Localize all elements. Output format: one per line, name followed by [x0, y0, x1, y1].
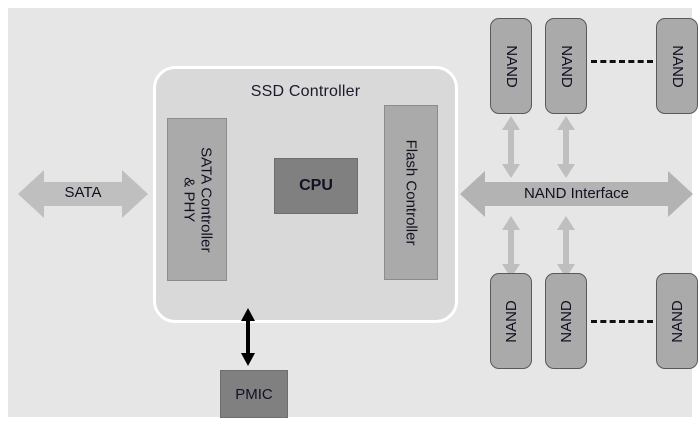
- sata-controller-phy-label-line1: SATA Controller: [197, 147, 214, 252]
- nand-chip-top-1: NAND: [490, 18, 532, 114]
- nand-channel-arrow-bottom-2: [556, 216, 576, 278]
- diagram-canvas: SATA SSD Controller SATA Controller & PH…: [8, 8, 692, 417]
- nand-channel-arrow-bottom-1: [501, 216, 521, 278]
- nand-chip-top-1-label: NAND: [503, 45, 520, 88]
- ssd-controller-title: SSD Controller: [156, 83, 455, 101]
- nand-chip-bottom-2-label: NAND: [558, 300, 575, 343]
- nand-chip-top-3-label: NAND: [669, 45, 686, 88]
- sata-controller-phy-block: SATA Controller & PHY: [167, 118, 227, 281]
- cpu-block: CPU: [274, 158, 358, 214]
- nand-chip-bottom-3: NAND: [656, 273, 698, 369]
- nand-chip-bottom-1-label: NAND: [503, 300, 520, 343]
- nand-channel-arrow-top-2: [556, 116, 576, 178]
- pmic-block: PMIC: [220, 370, 288, 418]
- pmic-label: PMIC: [235, 386, 273, 403]
- sata-interface-label: SATA: [18, 184, 148, 201]
- nand-chip-bottom-1: NAND: [490, 273, 532, 369]
- sata-controller-phy-label-line2: & PHY: [180, 147, 197, 252]
- nand-top-row-ellipsis-dashed-line: [591, 60, 653, 63]
- nand-chip-bottom-2: NAND: [545, 273, 587, 369]
- nand-chip-top-2-label: NAND: [558, 45, 575, 88]
- nand-channel-arrow-top-1: [501, 116, 521, 178]
- flash-controller-label: Flash Controller: [403, 140, 420, 246]
- flash-controller-block: Flash Controller: [384, 105, 438, 280]
- nand-interface-label: NAND Interface: [460, 185, 693, 202]
- sata-controller-phy-label: SATA Controller & PHY: [180, 147, 214, 252]
- pmic-power-connector-arrow: [240, 308, 256, 366]
- nand-chip-top-3: NAND: [656, 18, 698, 114]
- ssd-block-diagram: SATA SSD Controller SATA Controller & PH…: [0, 0, 700, 425]
- nand-bottom-row-ellipsis-dashed-line: [591, 320, 653, 323]
- nand-chip-top-2: NAND: [545, 18, 587, 114]
- cpu-label: CPU: [299, 177, 333, 195]
- nand-chip-bottom-3-label: NAND: [669, 300, 686, 343]
